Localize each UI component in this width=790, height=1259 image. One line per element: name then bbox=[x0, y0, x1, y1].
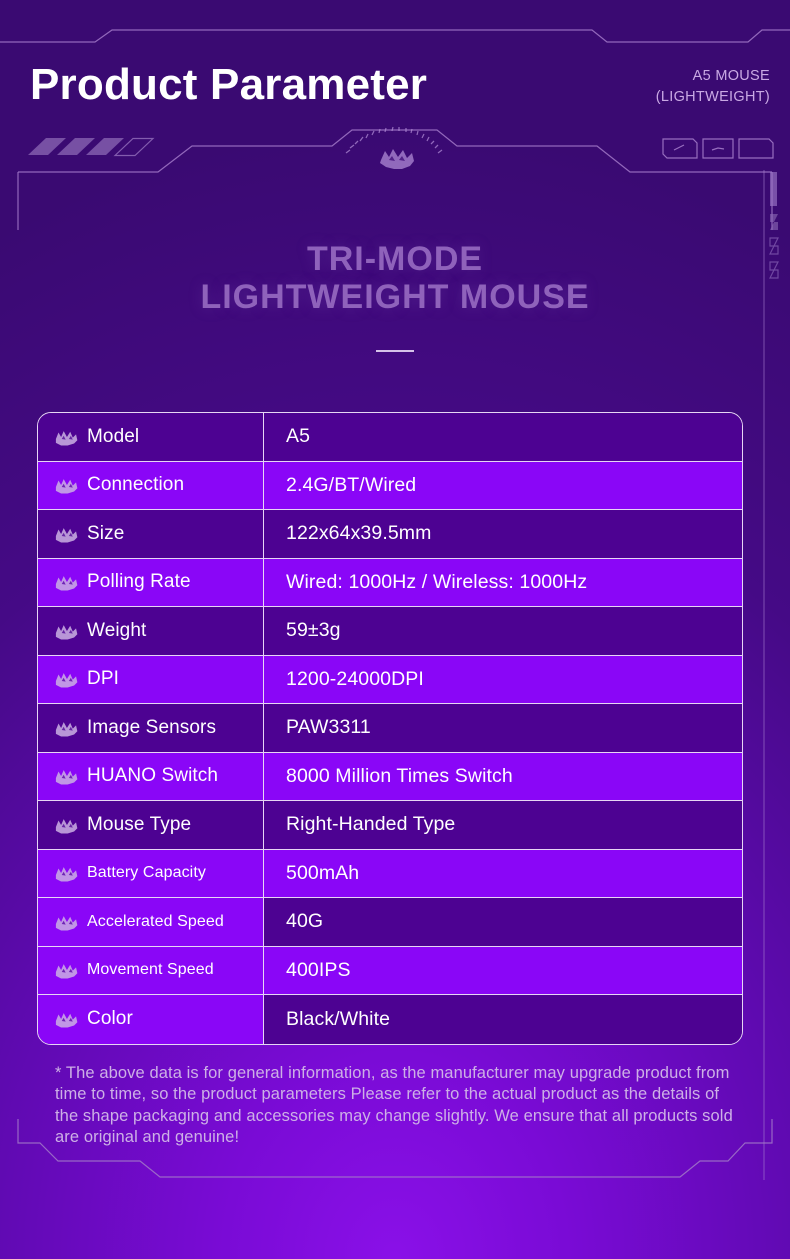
spec-label-text: Battery Capacity bbox=[87, 864, 206, 882]
spec-label-cell: Color bbox=[38, 995, 264, 1044]
spec-value-text: 59±3g bbox=[286, 619, 341, 642]
spec-label-cell: HUANO Switch bbox=[38, 753, 264, 802]
spec-value-text: 400IPS bbox=[286, 959, 351, 982]
wolf-head-icon bbox=[52, 816, 78, 834]
poster-root: Product Parameter A5 MOUSE (LIGHTWEIGHT)… bbox=[0, 0, 790, 1259]
spec-label-text: Size bbox=[87, 523, 124, 545]
spec-value-cell: 1200-24000DPI bbox=[264, 656, 742, 705]
table-row: Accelerated Speed40G bbox=[38, 898, 742, 947]
spec-label-cell: Image Sensors bbox=[38, 704, 264, 753]
table-row: Movement Speed400IPS bbox=[38, 947, 742, 996]
spec-label-text: Accelerated Speed bbox=[87, 913, 224, 931]
spec-value-cell: 59±3g bbox=[264, 607, 742, 656]
wolf-head-icon bbox=[52, 573, 78, 591]
hero-line-1: TRI-MODE bbox=[0, 240, 790, 278]
wolf-head-icon bbox=[52, 767, 78, 785]
wolf-head-icon bbox=[52, 670, 78, 688]
spec-value-cell: Right-Handed Type bbox=[264, 801, 742, 850]
product-tag-line1: A5 MOUSE bbox=[656, 66, 770, 87]
wolf-head-icon bbox=[346, 127, 442, 169]
page-title: Product Parameter bbox=[30, 63, 427, 107]
spec-label-text: Movement Speed bbox=[87, 961, 214, 979]
spec-value-text: 1200-24000DPI bbox=[286, 668, 424, 691]
spec-label-cell: DPI bbox=[38, 656, 264, 705]
spec-value-text: Wired: 1000Hz / Wireless: 1000Hz bbox=[286, 571, 587, 594]
wolf-head-icon bbox=[52, 428, 78, 446]
spec-label-cell: Polling Rate bbox=[38, 559, 264, 608]
spec-value-text: 500mAh bbox=[286, 862, 359, 885]
spec-label-cell: Mouse Type bbox=[38, 801, 264, 850]
wolf-head-icon bbox=[52, 622, 78, 640]
wolf-head-icon bbox=[52, 1010, 78, 1028]
table-row: Connection2.4G/BT/Wired bbox=[38, 462, 742, 511]
spec-label-text: Model bbox=[87, 426, 139, 448]
wolf-head-icon bbox=[52, 913, 78, 931]
table-row: ModelA5 bbox=[38, 413, 742, 462]
wolf-head-icon bbox=[52, 864, 78, 882]
spec-value-cell: 8000 Million Times Switch bbox=[264, 753, 742, 802]
spec-value-text: Black/White bbox=[286, 1008, 390, 1031]
spec-label-cell: Weight bbox=[38, 607, 264, 656]
side-rail-decoration bbox=[744, 170, 790, 1180]
spec-label-text: Color bbox=[87, 1008, 133, 1030]
spec-value-cell: 2.4G/BT/Wired bbox=[264, 462, 742, 511]
spec-label-cell: Size bbox=[38, 510, 264, 559]
spec-value-cell: 40G bbox=[264, 898, 742, 947]
spec-label-text: Weight bbox=[87, 620, 146, 642]
spec-value-text: A5 bbox=[286, 425, 310, 448]
deco-box-group bbox=[663, 139, 773, 158]
spec-value-cell: A5 bbox=[264, 413, 742, 462]
table-row: Image SensorsPAW3311 bbox=[38, 704, 742, 753]
spec-label-text: Connection bbox=[87, 474, 184, 496]
spec-value-text: 40G bbox=[286, 910, 323, 933]
table-row: Mouse TypeRight-Handed Type bbox=[38, 801, 742, 850]
table-row: Battery Capacity500mAh bbox=[38, 850, 742, 899]
spec-label-cell: Model bbox=[38, 413, 264, 462]
spec-label-cell: Battery Capacity bbox=[38, 850, 264, 899]
table-row: Size122x64x39.5mm bbox=[38, 510, 742, 559]
spec-value-cell: 122x64x39.5mm bbox=[264, 510, 742, 559]
spec-value-cell: Black/White bbox=[264, 995, 742, 1044]
spec-label-text: DPI bbox=[87, 668, 119, 690]
spec-value-text: 2.4G/BT/Wired bbox=[286, 474, 416, 497]
spec-value-text: 122x64x39.5mm bbox=[286, 522, 431, 545]
dash-decoration bbox=[28, 138, 153, 156]
spec-label-text: Mouse Type bbox=[87, 814, 191, 836]
spec-value-cell: PAW3311 bbox=[264, 704, 742, 753]
wolf-head-icon bbox=[52, 961, 78, 979]
spec-value-cell: 400IPS bbox=[264, 947, 742, 996]
table-row: Polling RateWired: 1000Hz / Wireless: 10… bbox=[38, 559, 742, 608]
bottom-frame-decoration bbox=[0, 1119, 790, 1259]
product-tag: A5 MOUSE (LIGHTWEIGHT) bbox=[656, 66, 770, 107]
spec-value-text: Right-Handed Type bbox=[286, 813, 455, 836]
table-row: Weight59±3g bbox=[38, 607, 742, 656]
spec-value-cell: Wired: 1000Hz / Wireless: 1000Hz bbox=[264, 559, 742, 608]
spec-label-text: HUANO Switch bbox=[87, 765, 218, 787]
spec-label-text: Image Sensors bbox=[87, 717, 216, 739]
spec-label-cell: Movement Speed bbox=[38, 947, 264, 996]
hero-divider bbox=[376, 350, 414, 352]
spec-label-cell: Connection bbox=[38, 462, 264, 511]
wolf-head-icon bbox=[52, 476, 78, 494]
wolf-head-icon bbox=[52, 719, 78, 737]
spec-label-cell: Accelerated Speed bbox=[38, 898, 264, 947]
table-row: HUANO Switch8000 Million Times Switch bbox=[38, 753, 742, 802]
table-row: DPI1200-24000DPI bbox=[38, 656, 742, 705]
spec-value-cell: 500mAh bbox=[264, 850, 742, 899]
hero-heading: TRI-MODE LIGHTWEIGHT MOUSE bbox=[0, 240, 790, 316]
hero-line-2: LIGHTWEIGHT MOUSE bbox=[0, 278, 790, 316]
spec-label-text: Polling Rate bbox=[87, 571, 191, 593]
spec-table: ModelA5Connection2.4G/BT/WiredSize122x64… bbox=[37, 412, 743, 1045]
wolf-head-icon bbox=[52, 525, 78, 543]
table-row: ColorBlack/White bbox=[38, 995, 742, 1044]
spec-value-text: PAW3311 bbox=[286, 716, 371, 739]
spec-value-text: 8000 Million Times Switch bbox=[286, 765, 513, 788]
product-tag-line2: (LIGHTWEIGHT) bbox=[656, 87, 770, 108]
top-frame-decoration bbox=[0, 0, 790, 230]
